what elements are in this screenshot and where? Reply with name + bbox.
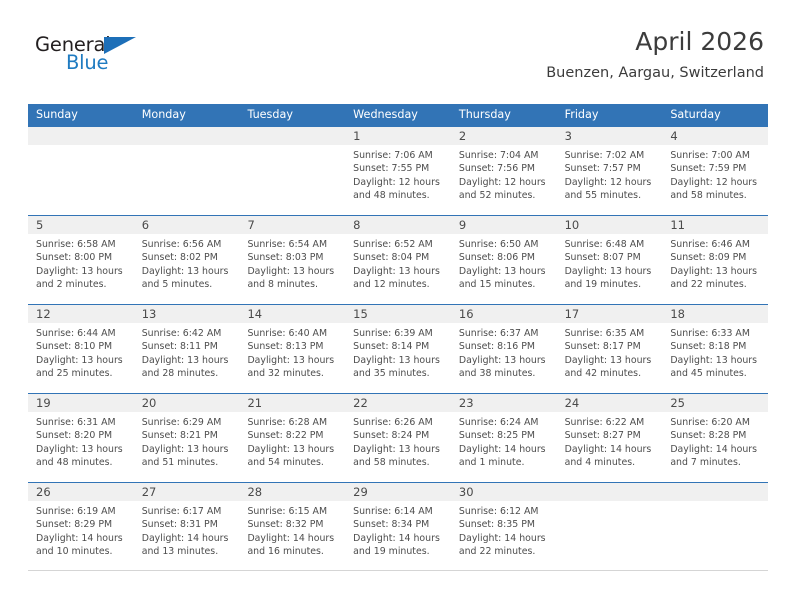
day-details: Sunrise: 6:19 AMSunset: 8:29 PMDaylight:… [28,501,134,559]
day-cell[interactable]: 22Sunrise: 6:26 AMSunset: 8:24 PMDayligh… [345,394,451,482]
daylight-text-line2: and 19 minutes. [565,278,657,291]
day-number: 12 [28,305,134,323]
day-number: 16 [451,305,557,323]
daylight-text-line1: Daylight: 14 hours [36,532,128,545]
day-cell-empty [239,127,345,215]
day-number: 14 [239,305,345,323]
day-cell[interactable]: 14Sunrise: 6:40 AMSunset: 8:13 PMDayligh… [239,305,345,393]
daylight-text-line2: and 38 minutes. [459,367,551,380]
day-cell[interactable]: 24Sunrise: 6:22 AMSunset: 8:27 PMDayligh… [557,394,663,482]
sunrise-text: Sunrise: 6:19 AM [36,505,128,518]
sunset-text: Sunset: 8:21 PM [142,429,234,442]
day-details: Sunrise: 6:54 AMSunset: 8:03 PMDaylight:… [239,234,345,292]
daylight-text-line2: and 42 minutes. [565,367,657,380]
daylight-text-line1: Daylight: 14 hours [670,443,762,456]
daylight-text-line1: Daylight: 12 hours [670,176,762,189]
day-number: 2 [451,127,557,145]
daylight-text-line2: and 1 minute. [459,456,551,469]
daylight-text-line2: and 58 minutes. [353,456,445,469]
daylight-text-line1: Daylight: 14 hours [142,532,234,545]
day-cell[interactable]: 2Sunrise: 7:04 AMSunset: 7:56 PMDaylight… [451,127,557,215]
day-number: 23 [451,394,557,412]
daylight-text-line2: and 22 minutes. [670,278,762,291]
daylight-text-line2: and 54 minutes. [247,456,339,469]
day-number: 13 [134,305,240,323]
day-cell[interactable]: 19Sunrise: 6:31 AMSunset: 8:20 PMDayligh… [28,394,134,482]
logo-text-blue: Blue [66,52,108,74]
day-details: Sunrise: 7:04 AMSunset: 7:56 PMDaylight:… [451,145,557,203]
day-details: Sunrise: 6:28 AMSunset: 8:22 PMDaylight:… [239,412,345,470]
sunrise-text: Sunrise: 6:48 AM [565,238,657,251]
weekday-header-row: SundayMondayTuesdayWednesdayThursdayFrid… [28,104,768,126]
day-cell[interactable]: 7Sunrise: 6:54 AMSunset: 8:03 PMDaylight… [239,216,345,304]
daylight-text-line2: and 35 minutes. [353,367,445,380]
day-number: 19 [28,394,134,412]
sunrise-text: Sunrise: 6:20 AM [670,416,762,429]
day-cell[interactable]: 4Sunrise: 7:00 AMSunset: 7:59 PMDaylight… [662,127,768,215]
sunrise-text: Sunrise: 6:54 AM [247,238,339,251]
day-cell[interactable]: 12Sunrise: 6:44 AMSunset: 8:10 PMDayligh… [28,305,134,393]
day-number: 4 [662,127,768,145]
daylight-text-line2: and 58 minutes. [670,189,762,202]
sunrise-text: Sunrise: 6:56 AM [142,238,234,251]
sunset-text: Sunset: 8:17 PM [565,340,657,353]
daylight-text-line2: and 52 minutes. [459,189,551,202]
day-number: 29 [345,483,451,501]
sunset-text: Sunset: 7:55 PM [353,162,445,175]
daylight-text-line1: Daylight: 13 hours [36,443,128,456]
day-details: Sunrise: 7:02 AMSunset: 7:57 PMDaylight:… [557,145,663,203]
daylight-text-line2: and 5 minutes. [142,278,234,291]
calendar-week-row: 12Sunrise: 6:44 AMSunset: 8:10 PMDayligh… [28,304,768,393]
day-number: 24 [557,394,663,412]
day-cell-empty [28,127,134,215]
sunrise-text: Sunrise: 6:24 AM [459,416,551,429]
day-cell-empty [557,483,663,570]
day-details: Sunrise: 6:24 AMSunset: 8:25 PMDaylight:… [451,412,557,470]
daylight-text-line1: Daylight: 13 hours [565,354,657,367]
page-header: General Blue April 2026 Buenzen, Aargau,… [28,26,764,98]
daylight-text-line1: Daylight: 13 hours [142,265,234,278]
day-number: 17 [557,305,663,323]
sunset-text: Sunset: 8:10 PM [36,340,128,353]
day-details: Sunrise: 6:15 AMSunset: 8:32 PMDaylight:… [239,501,345,559]
day-cell[interactable]: 5Sunrise: 6:58 AMSunset: 8:00 PMDaylight… [28,216,134,304]
sunrise-text: Sunrise: 6:40 AM [247,327,339,340]
calendar-week-row: 1Sunrise: 7:06 AMSunset: 7:55 PMDaylight… [28,126,768,215]
day-details: Sunrise: 6:31 AMSunset: 8:20 PMDaylight:… [28,412,134,470]
sunrise-text: Sunrise: 7:00 AM [670,149,762,162]
daylight-text-line2: and 28 minutes. [142,367,234,380]
day-details: Sunrise: 6:29 AMSunset: 8:21 PMDaylight:… [134,412,240,470]
sunset-text: Sunset: 8:04 PM [353,251,445,264]
sunset-text: Sunset: 8:29 PM [36,518,128,531]
day-details: Sunrise: 6:56 AMSunset: 8:02 PMDaylight:… [134,234,240,292]
daylight-text-line1: Daylight: 12 hours [565,176,657,189]
sunset-text: Sunset: 8:14 PM [353,340,445,353]
sunset-text: Sunset: 8:16 PM [459,340,551,353]
sunset-text: Sunset: 8:18 PM [670,340,762,353]
day-cell[interactable]: 27Sunrise: 6:17 AMSunset: 8:31 PMDayligh… [134,483,240,570]
day-number: 10 [557,216,663,234]
day-cell[interactable]: 30Sunrise: 6:12 AMSunset: 8:35 PMDayligh… [451,483,557,570]
sunset-text: Sunset: 8:09 PM [670,251,762,264]
day-number: 28 [239,483,345,501]
daylight-text-line2: and 48 minutes. [36,456,128,469]
day-number [557,483,663,501]
sunrise-text: Sunrise: 7:04 AM [459,149,551,162]
sunset-text: Sunset: 8:27 PM [565,429,657,442]
sunset-text: Sunset: 8:28 PM [670,429,762,442]
sunrise-text: Sunrise: 6:28 AM [247,416,339,429]
sunset-text: Sunset: 7:57 PM [565,162,657,175]
daylight-text-line1: Daylight: 13 hours [142,443,234,456]
daylight-text-line2: and 45 minutes. [670,367,762,380]
daylight-text-line1: Daylight: 13 hours [36,354,128,367]
sunset-text: Sunset: 8:00 PM [36,251,128,264]
daylight-text-line1: Daylight: 13 hours [247,354,339,367]
daylight-text-line1: Daylight: 12 hours [353,176,445,189]
sunrise-text: Sunrise: 6:58 AM [36,238,128,251]
daylight-text-line1: Daylight: 13 hours [247,265,339,278]
calendar-week-row: 19Sunrise: 6:31 AMSunset: 8:20 PMDayligh… [28,393,768,482]
sunset-text: Sunset: 8:25 PM [459,429,551,442]
day-details: Sunrise: 6:12 AMSunset: 8:35 PMDaylight:… [451,501,557,559]
sunrise-text: Sunrise: 6:31 AM [36,416,128,429]
day-details: Sunrise: 6:44 AMSunset: 8:10 PMDaylight:… [28,323,134,381]
day-number: 11 [662,216,768,234]
day-number [239,127,345,145]
daylight-text-line2: and 48 minutes. [353,189,445,202]
sunset-text: Sunset: 8:06 PM [459,251,551,264]
daylight-text-line1: Daylight: 13 hours [353,354,445,367]
day-cell[interactable]: 8Sunrise: 6:52 AMSunset: 8:04 PMDaylight… [345,216,451,304]
day-details: Sunrise: 6:35 AMSunset: 8:17 PMDaylight:… [557,323,663,381]
day-cell[interactable]: 20Sunrise: 6:29 AMSunset: 8:21 PMDayligh… [134,394,240,482]
title-block: April 2026 Buenzen, Aargau, Switzerland [546,26,764,82]
day-cell-empty [662,483,768,570]
sunset-text: Sunset: 8:02 PM [142,251,234,264]
day-cell[interactable]: 6Sunrise: 6:56 AMSunset: 8:02 PMDaylight… [134,216,240,304]
daylight-text-line1: Daylight: 14 hours [459,532,551,545]
sunset-text: Sunset: 8:24 PM [353,429,445,442]
day-details: Sunrise: 6:58 AMSunset: 8:00 PMDaylight:… [28,234,134,292]
daylight-text-line2: and 32 minutes. [247,367,339,380]
daylight-text-line1: Daylight: 13 hours [36,265,128,278]
daylight-text-line2: and 16 minutes. [247,545,339,558]
daylight-text-line2: and 2 minutes. [36,278,128,291]
weekday-header-tuesday: Tuesday [239,104,345,126]
weekday-header-sunday: Sunday [28,104,134,126]
daylight-text-line1: Daylight: 13 hours [459,265,551,278]
day-cell[interactable]: 17Sunrise: 6:35 AMSunset: 8:17 PMDayligh… [557,305,663,393]
day-number: 8 [345,216,451,234]
sunset-text: Sunset: 7:59 PM [670,162,762,175]
daylight-text-line2: and 4 minutes. [565,456,657,469]
sunrise-text: Sunrise: 6:22 AM [565,416,657,429]
daylight-text-line2: and 15 minutes. [459,278,551,291]
day-details: Sunrise: 6:50 AMSunset: 8:06 PMDaylight:… [451,234,557,292]
day-cell[interactable]: 9Sunrise: 6:50 AMSunset: 8:06 PMDaylight… [451,216,557,304]
weekday-header-wednesday: Wednesday [345,104,451,126]
day-cell[interactable]: 18Sunrise: 6:33 AMSunset: 8:18 PMDayligh… [662,305,768,393]
daylight-text-line2: and 10 minutes. [36,545,128,558]
day-cell[interactable]: 13Sunrise: 6:42 AMSunset: 8:11 PMDayligh… [134,305,240,393]
sunset-text: Sunset: 8:13 PM [247,340,339,353]
day-number: 25 [662,394,768,412]
day-number [134,127,240,145]
calendar-week-row: 26Sunrise: 6:19 AMSunset: 8:29 PMDayligh… [28,482,768,571]
weekday-header-friday: Friday [557,104,663,126]
day-cell[interactable]: 11Sunrise: 6:46 AMSunset: 8:09 PMDayligh… [662,216,768,304]
sunrise-text: Sunrise: 6:12 AM [459,505,551,518]
day-cell[interactable]: 1Sunrise: 7:06 AMSunset: 7:55 PMDaylight… [345,127,451,215]
day-cell[interactable]: 10Sunrise: 6:48 AMSunset: 8:07 PMDayligh… [557,216,663,304]
page-subtitle: Buenzen, Aargau, Switzerland [546,64,764,82]
daylight-text-line1: Daylight: 13 hours [565,265,657,278]
daylight-text-line2: and 13 minutes. [142,545,234,558]
daylight-text-line2: and 22 minutes. [459,545,551,558]
daylight-text-line1: Daylight: 13 hours [353,443,445,456]
day-number [662,483,768,501]
sunset-text: Sunset: 8:32 PM [247,518,339,531]
day-number [28,127,134,145]
daylight-text-line2: and 7 minutes. [670,456,762,469]
sunrise-text: Sunrise: 6:37 AM [459,327,551,340]
weekday-header-thursday: Thursday [451,104,557,126]
sunset-text: Sunset: 8:11 PM [142,340,234,353]
day-number: 7 [239,216,345,234]
day-cell[interactable]: 28Sunrise: 6:15 AMSunset: 8:32 PMDayligh… [239,483,345,570]
sunrise-text: Sunrise: 6:52 AM [353,238,445,251]
sunset-text: Sunset: 7:56 PM [459,162,551,175]
day-cell[interactable]: 26Sunrise: 6:19 AMSunset: 8:29 PMDayligh… [28,483,134,570]
day-details: Sunrise: 6:22 AMSunset: 8:27 PMDaylight:… [557,412,663,470]
day-number: 22 [345,394,451,412]
day-cell[interactable]: 16Sunrise: 6:37 AMSunset: 8:16 PMDayligh… [451,305,557,393]
daylight-text-line1: Daylight: 13 hours [353,265,445,278]
day-details: Sunrise: 6:40 AMSunset: 8:13 PMDaylight:… [239,323,345,381]
sunrise-text: Sunrise: 6:33 AM [670,327,762,340]
daylight-text-line1: Daylight: 13 hours [670,265,762,278]
day-number: 5 [28,216,134,234]
sunrise-text: Sunrise: 6:50 AM [459,238,551,251]
day-cell[interactable]: 3Sunrise: 7:02 AMSunset: 7:57 PMDaylight… [557,127,663,215]
day-number: 27 [134,483,240,501]
sunrise-text: Sunrise: 7:06 AM [353,149,445,162]
day-number: 20 [134,394,240,412]
day-cell[interactable]: 29Sunrise: 6:14 AMSunset: 8:34 PMDayligh… [345,483,451,570]
weekday-header-monday: Monday [134,104,240,126]
sunset-text: Sunset: 8:07 PM [565,251,657,264]
sunset-text: Sunset: 8:31 PM [142,518,234,531]
sunrise-text: Sunrise: 6:44 AM [36,327,128,340]
day-details: Sunrise: 6:46 AMSunset: 8:09 PMDaylight:… [662,234,768,292]
page-title: April 2026 [546,26,764,58]
sunrise-text: Sunrise: 6:17 AM [142,505,234,518]
day-cell[interactable]: 21Sunrise: 6:28 AMSunset: 8:22 PMDayligh… [239,394,345,482]
day-number: 21 [239,394,345,412]
daylight-text-line1: Daylight: 13 hours [247,443,339,456]
sunrise-text: Sunrise: 6:39 AM [353,327,445,340]
day-details: Sunrise: 6:14 AMSunset: 8:34 PMDaylight:… [345,501,451,559]
day-details: Sunrise: 6:26 AMSunset: 8:24 PMDaylight:… [345,412,451,470]
weekday-header-saturday: Saturday [662,104,768,126]
daylight-text-line2: and 51 minutes. [142,456,234,469]
daylight-text-line1: Daylight: 13 hours [142,354,234,367]
day-details: Sunrise: 6:39 AMSunset: 8:14 PMDaylight:… [345,323,451,381]
day-details: Sunrise: 6:42 AMSunset: 8:11 PMDaylight:… [134,323,240,381]
daylight-text-line1: Daylight: 12 hours [459,176,551,189]
day-number: 18 [662,305,768,323]
daylight-text-line2: and 8 minutes. [247,278,339,291]
day-cell[interactable]: 23Sunrise: 6:24 AMSunset: 8:25 PMDayligh… [451,394,557,482]
daylight-text-line1: Daylight: 14 hours [247,532,339,545]
day-number: 9 [451,216,557,234]
sunrise-text: Sunrise: 6:14 AM [353,505,445,518]
sunset-text: Sunset: 8:03 PM [247,251,339,264]
daylight-text-line2: and 55 minutes. [565,189,657,202]
daylight-text-line1: Daylight: 14 hours [353,532,445,545]
day-number: 1 [345,127,451,145]
day-details: Sunrise: 7:06 AMSunset: 7:55 PMDaylight:… [345,145,451,203]
sunset-text: Sunset: 8:20 PM [36,429,128,442]
day-details: Sunrise: 6:20 AMSunset: 8:28 PMDaylight:… [662,412,768,470]
general-blue-logo[interactable]: General Blue [35,34,155,80]
calendar-weeks: 1Sunrise: 7:06 AMSunset: 7:55 PMDaylight… [28,126,768,571]
daylight-text-line1: Daylight: 14 hours [565,443,657,456]
day-number: 15 [345,305,451,323]
day-number: 6 [134,216,240,234]
sunrise-text: Sunrise: 6:42 AM [142,327,234,340]
sunset-text: Sunset: 8:22 PM [247,429,339,442]
day-number: 30 [451,483,557,501]
day-number: 3 [557,127,663,145]
day-number: 26 [28,483,134,501]
sunrise-text: Sunrise: 6:26 AM [353,416,445,429]
day-cell[interactable]: 15Sunrise: 6:39 AMSunset: 8:14 PMDayligh… [345,305,451,393]
daylight-text-line1: Daylight: 14 hours [459,443,551,456]
daylight-text-line1: Daylight: 13 hours [670,354,762,367]
logo-flag-icon [104,37,136,54]
day-details: Sunrise: 6:17 AMSunset: 8:31 PMDaylight:… [134,501,240,559]
calendar-grid: SundayMondayTuesdayWednesdayThursdayFrid… [28,104,768,571]
day-cell-empty [134,127,240,215]
sunrise-text: Sunrise: 7:02 AM [565,149,657,162]
sunrise-text: Sunrise: 6:15 AM [247,505,339,518]
daylight-text-line2: and 12 minutes. [353,278,445,291]
sunset-text: Sunset: 8:34 PM [353,518,445,531]
calendar-page: General Blue April 2026 Buenzen, Aargau,… [0,0,792,612]
calendar-week-row: 5Sunrise: 6:58 AMSunset: 8:00 PMDaylight… [28,215,768,304]
day-cell[interactable]: 25Sunrise: 6:20 AMSunset: 8:28 PMDayligh… [662,394,768,482]
day-details: Sunrise: 6:33 AMSunset: 8:18 PMDaylight:… [662,323,768,381]
sunrise-text: Sunrise: 6:29 AM [142,416,234,429]
sunrise-text: Sunrise: 6:35 AM [565,327,657,340]
day-details: Sunrise: 6:52 AMSunset: 8:04 PMDaylight:… [345,234,451,292]
sunrise-text: Sunrise: 6:46 AM [670,238,762,251]
day-details: Sunrise: 6:37 AMSunset: 8:16 PMDaylight:… [451,323,557,381]
sunset-text: Sunset: 8:35 PM [459,518,551,531]
daylight-text-line1: Daylight: 13 hours [459,354,551,367]
day-details: Sunrise: 7:00 AMSunset: 7:59 PMDaylight:… [662,145,768,203]
daylight-text-line2: and 19 minutes. [353,545,445,558]
daylight-text-line2: and 25 minutes. [36,367,128,380]
day-details: Sunrise: 6:48 AMSunset: 8:07 PMDaylight:… [557,234,663,292]
